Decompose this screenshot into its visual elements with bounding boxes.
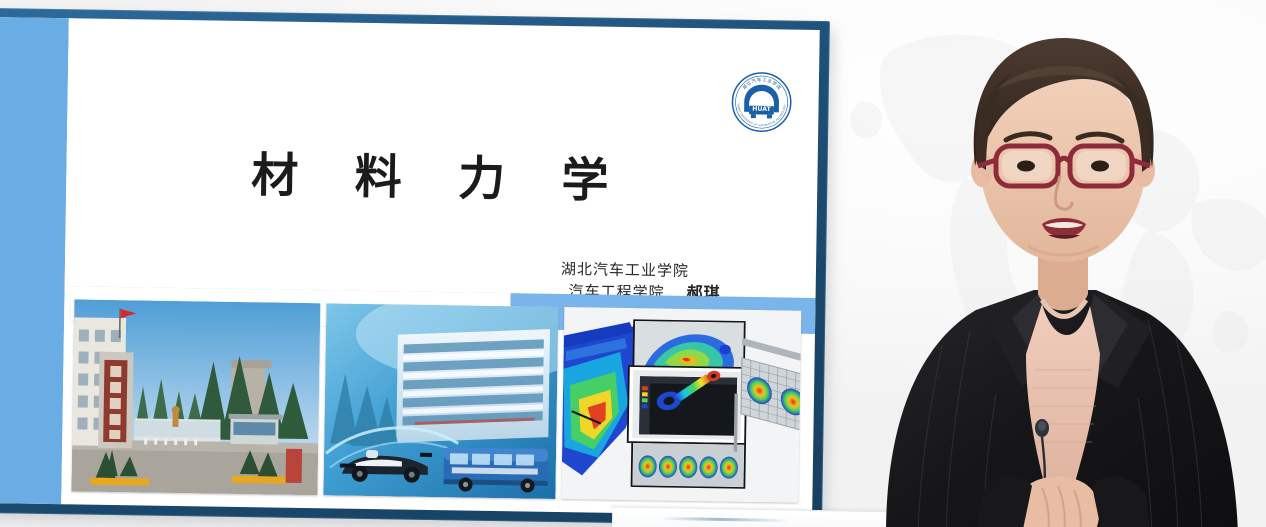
slide-frame-border: 材 料 力 学 湖北汽车工业学院 汽车工程学院 郝琪 [0, 8, 830, 526]
campus-main-gate-photo [71, 299, 320, 495]
slide-canvas: 材 料 力 学 湖北汽车工业学院 汽车工程学院 郝琪 [0, 17, 820, 516]
fea-simulation-photo [561, 307, 801, 503]
svg-text:HUAT: HUAT [752, 106, 771, 113]
slide-title: 材 料 力 学 [251, 136, 629, 211]
slide-photo-strip [71, 299, 801, 502]
video-frame: 材 料 力 学 湖北汽车工业学院 汽车工程学院 郝琪 [0, 0, 1266, 527]
huat-seal-logo-icon: HUAT 湖北汽车工业学院 HUBEI UNIVERSITY OF AUTOMO… [730, 71, 793, 134]
projected-slide[interactable]: 材 料 力 学 湖北汽车工业学院 汽车工程学院 郝琪 [0, 8, 830, 526]
presenter-instructor [846, 0, 1266, 527]
automotive-engineering-building-photo [323, 303, 558, 499]
slide-left-accent-bar [0, 17, 69, 504]
